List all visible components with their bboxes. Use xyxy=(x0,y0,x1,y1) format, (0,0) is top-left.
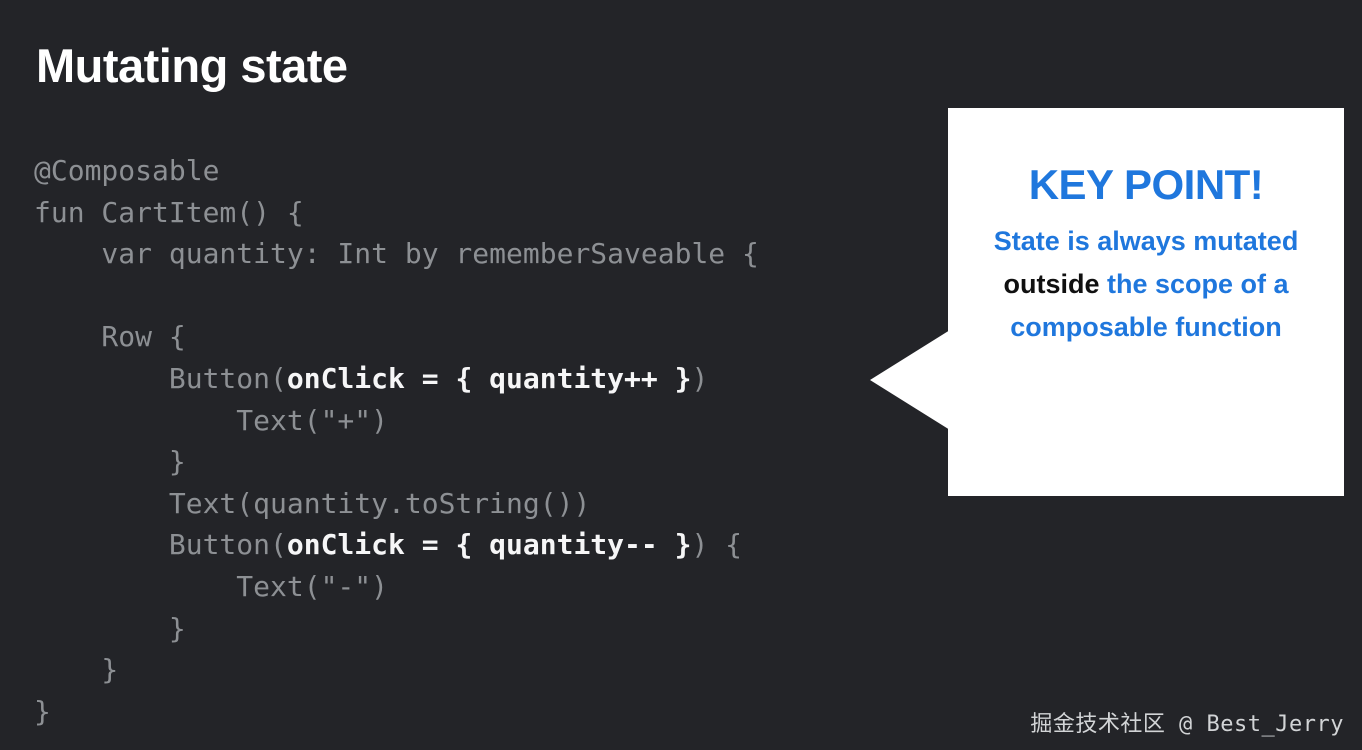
code-text: var quantity: Int by rememberSaveable { xyxy=(34,237,759,270)
code-block: @Composablefun CartItem() { var quantity… xyxy=(34,150,759,732)
code-line: } xyxy=(34,608,759,650)
code-text: } xyxy=(34,695,51,728)
code-line: var quantity: Int by rememberSaveable { xyxy=(34,233,759,275)
code-highlight: onClick = { quantity-- } xyxy=(287,528,692,561)
code-line: } xyxy=(34,691,759,733)
code-text: Text("-") xyxy=(34,570,388,603)
watermark-credit: 掘金技术社区 @ Best_Jerry xyxy=(1030,706,1344,738)
code-text: fun CartItem() { xyxy=(34,196,304,229)
callout-body-text: State is always mutated outside the scop… xyxy=(981,220,1311,349)
code-line: Text("+") xyxy=(34,400,759,442)
code-text: } xyxy=(34,445,186,478)
code-text: ) xyxy=(691,362,708,395)
code-line: fun CartItem() { xyxy=(34,192,759,234)
code-text: ) { xyxy=(691,528,742,561)
code-line: Text("-") xyxy=(34,566,759,608)
code-text: Text(quantity.toString()) xyxy=(34,487,590,520)
callout-heading: KEY POINT! xyxy=(1029,164,1264,206)
code-line: Row { xyxy=(34,316,759,358)
code-text: } xyxy=(34,653,118,686)
code-line: } xyxy=(34,649,759,691)
page-title: Mutating state xyxy=(36,40,348,93)
code-line: @Composable xyxy=(34,150,759,192)
code-line: Text(quantity.toString()) xyxy=(34,483,759,525)
code-text: Button( xyxy=(34,362,287,395)
code-text: Row { xyxy=(34,320,186,353)
callout-text-run: outside xyxy=(1003,269,1099,299)
code-line: Button(onClick = { quantity++ }) xyxy=(34,358,759,400)
callout-text-run: State is always mutated xyxy=(994,226,1299,256)
slide-canvas: Mutating state @Composablefun CartItem()… xyxy=(0,0,1362,750)
code-highlight: onClick = { quantity++ } xyxy=(287,362,692,395)
code-text: } xyxy=(34,612,186,645)
code-text: Text("+") xyxy=(34,404,388,437)
code-line xyxy=(34,275,759,317)
callout-pointer-triangle xyxy=(870,330,950,430)
key-point-callout: KEY POINT! State is always mutated outsi… xyxy=(948,108,1344,496)
code-line: } xyxy=(34,441,759,483)
code-line: Button(onClick = { quantity-- }) { xyxy=(34,524,759,566)
code-text: Button( xyxy=(34,528,287,561)
code-text: @Composable xyxy=(34,154,219,187)
